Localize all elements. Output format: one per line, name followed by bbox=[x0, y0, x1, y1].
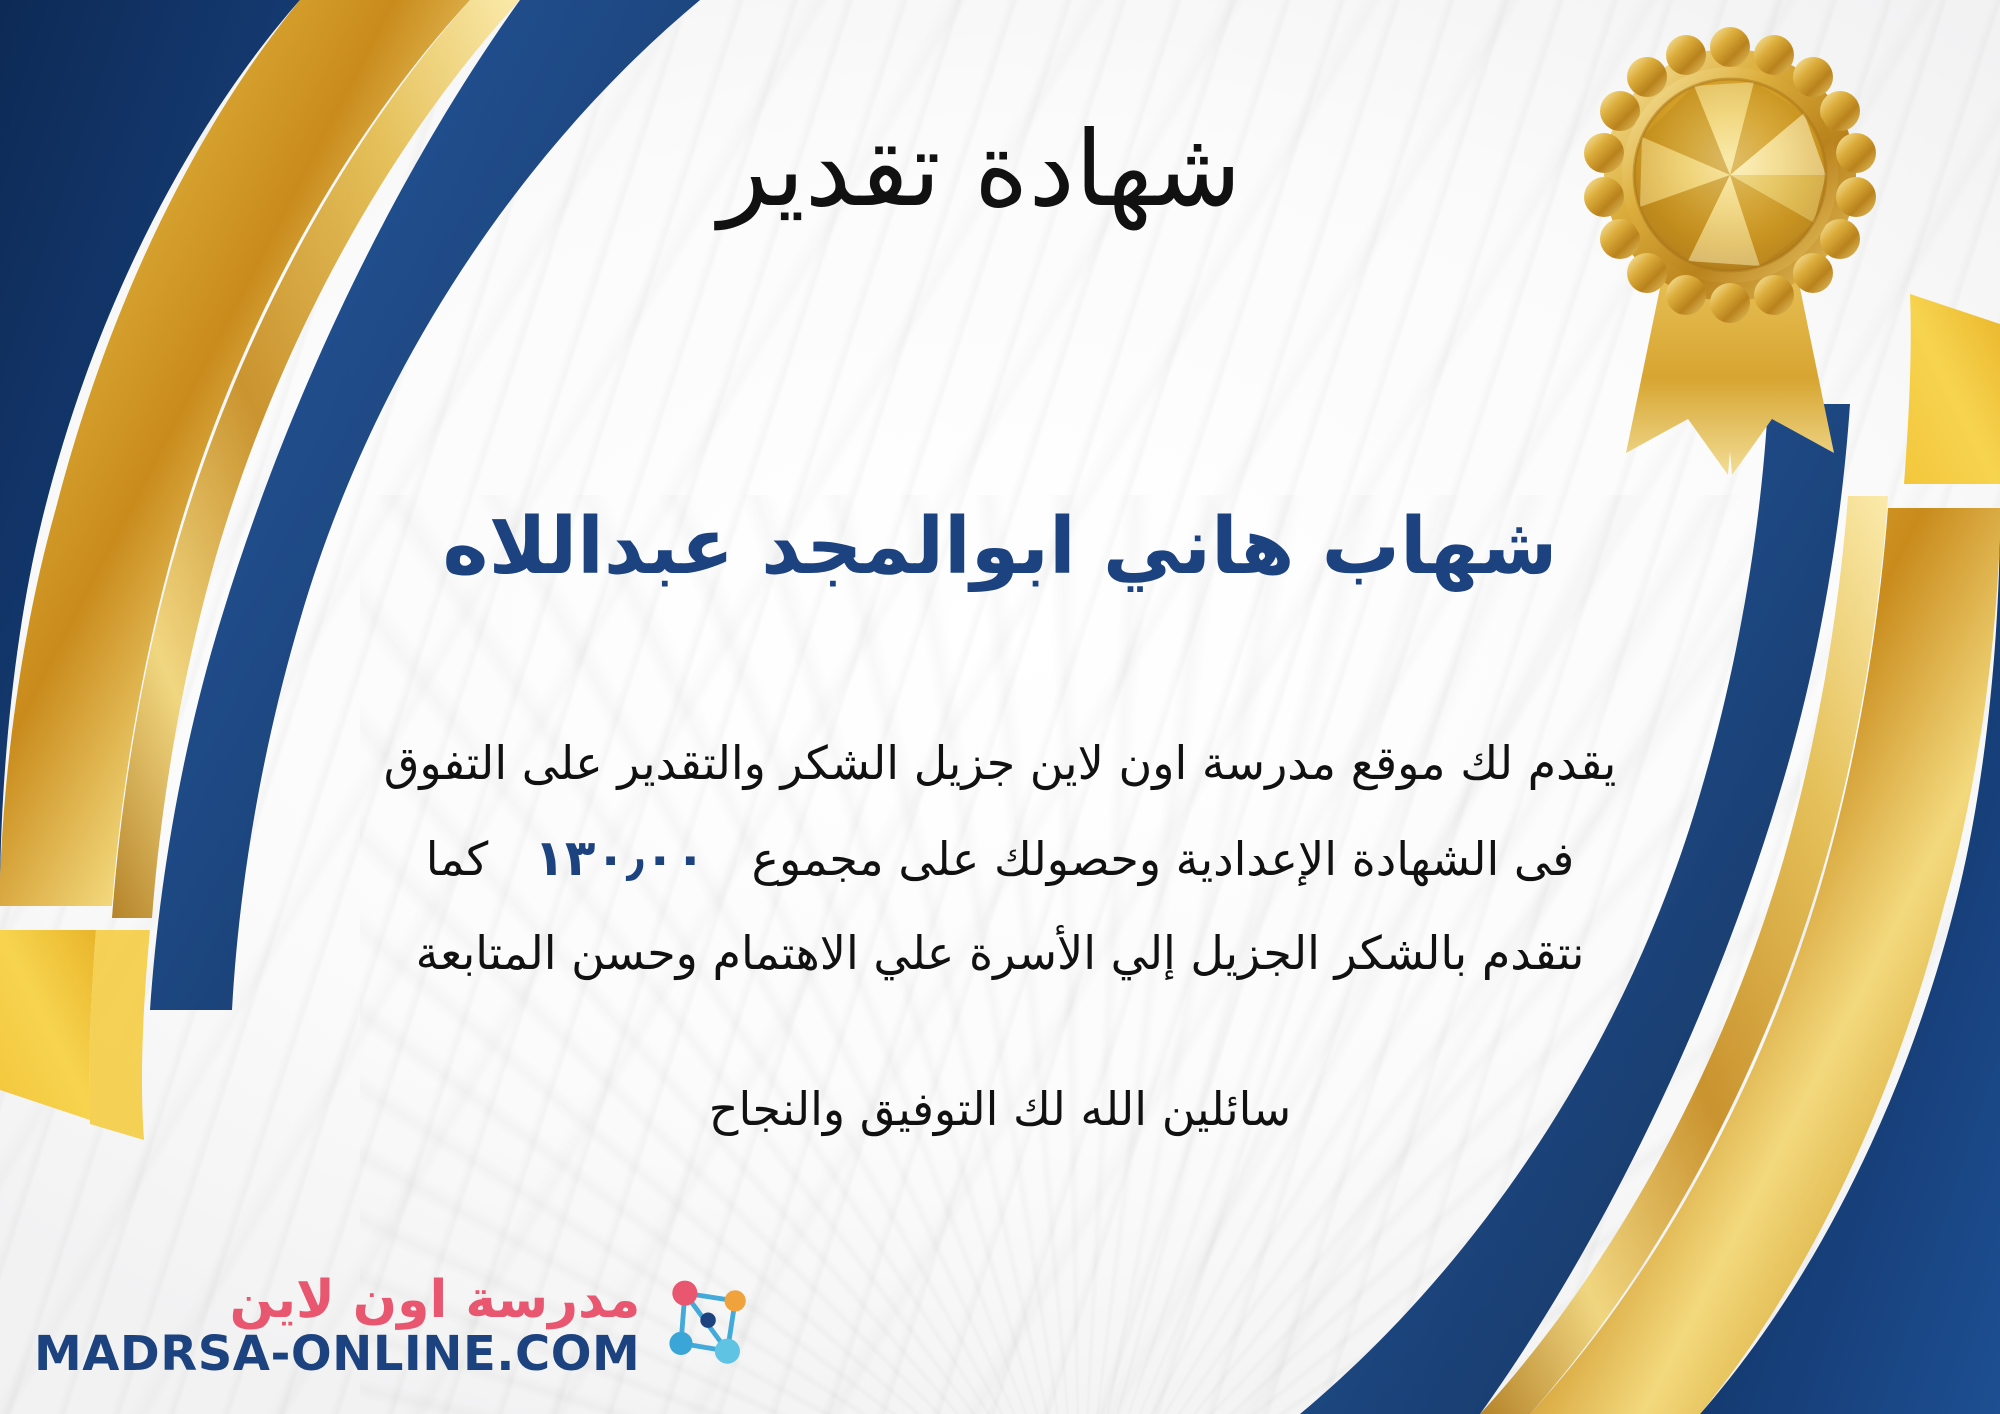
body-line-1: يقدم لك موقع مدرسة اون لاين جزيل الشكر و… bbox=[40, 718, 1960, 809]
certificate-body: يقدم لك موقع مدرسة اون لاين جزيل الشكر و… bbox=[40, 718, 1960, 999]
certificate-canvas: شهادة تقدير شهاب هاني ابوالمجد عبداللاه … bbox=[0, 0, 2000, 1414]
certificate-content: شهادة تقدير شهاب هاني ابوالمجد عبداللاه … bbox=[0, 0, 2000, 1414]
brand-name-arabic: مدرسة اون لاين bbox=[230, 1272, 641, 1328]
recipient-name: شهاب هاني ابوالمجد عبداللاه bbox=[0, 502, 2000, 592]
brand-logo[interactable]: مدرسة اون لاين MADRSA-ONLINE.COM bbox=[34, 1268, 768, 1384]
page-title: شهادة تقدير bbox=[0, 108, 2000, 230]
body-line-2: فى الشهادة الإعدادية وحصولك على مجموع ١٣… bbox=[40, 809, 1960, 908]
brand-text: مدرسة اون لاين MADRSA-ONLINE.COM bbox=[34, 1272, 640, 1381]
body-line-2-left: كما bbox=[426, 814, 489, 905]
body-line-2-right: فى الشهادة الإعدادية وحصولك على مجموع bbox=[752, 814, 1575, 905]
brand-website-url: MADRSA-ONLINE.COM bbox=[34, 1328, 640, 1381]
network-nodes-icon bbox=[652, 1268, 768, 1384]
grade-total-value: ١٣٠٫٠٠ bbox=[534, 809, 705, 908]
body-line-3: نتقدم بالشكر الجزيل إلي الأسرة علي الاهت… bbox=[40, 908, 1960, 999]
closing-line: سائلين الله لك التوفيق والنجاح bbox=[0, 1082, 2000, 1136]
